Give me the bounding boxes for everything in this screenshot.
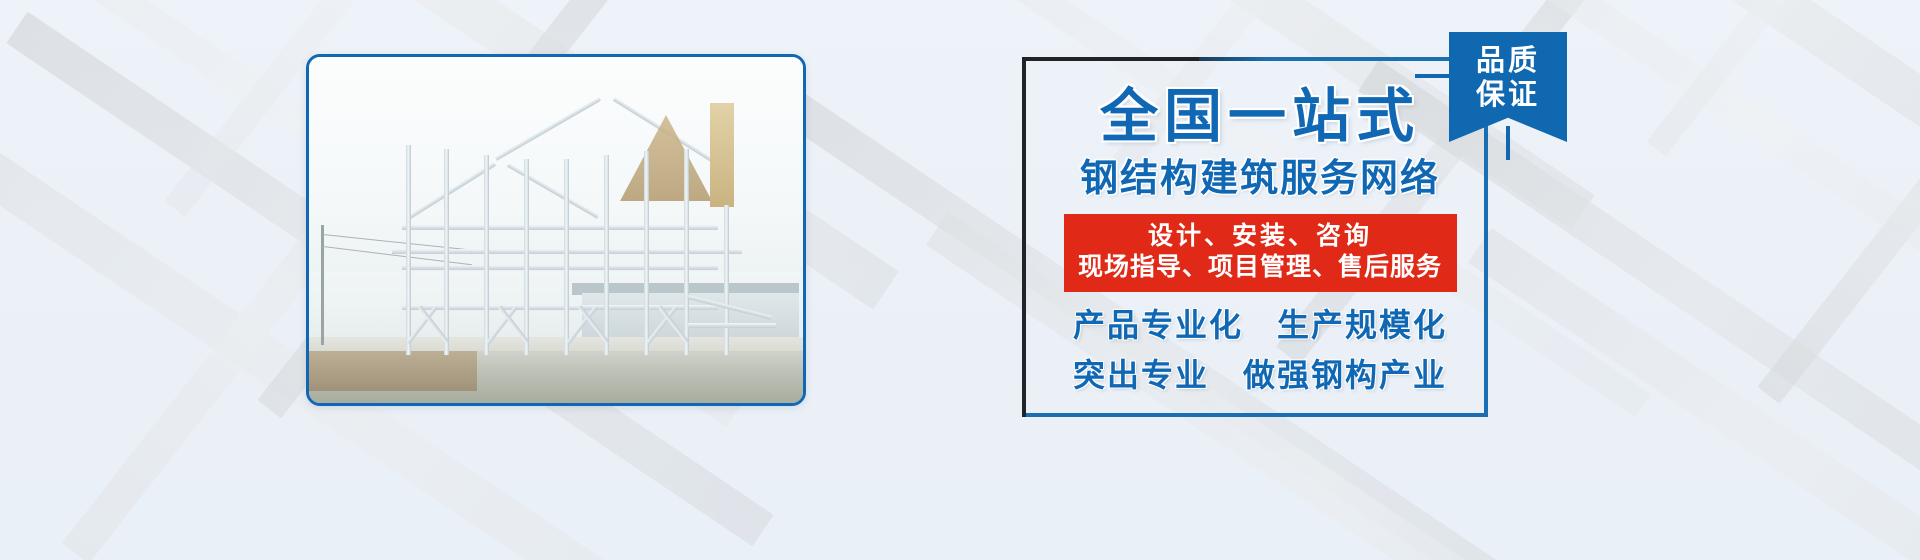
photo-dirt <box>309 351 477 391</box>
slogan-line-2: 突出专业 做强钢构产业 <box>1073 359 1447 391</box>
project-photo-card <box>306 54 806 406</box>
ribbon-connector-stem <box>1506 126 1510 160</box>
promo-banner: 品质 保证 全国一站式 钢结构建筑服务网络 设计、安装、咨询 现场指导、项目管理… <box>0 0 1920 560</box>
badge-line-2: 保证 <box>1476 78 1540 112</box>
slogan-line-1: 产品专业化 生产规模化 <box>1073 309 1447 341</box>
background-steel-beams <box>0 0 1920 560</box>
photo-utility-pole <box>321 225 324 345</box>
badge-line-1: 品质 <box>1476 44 1540 78</box>
banner-headline: 全国一站式 <box>1100 88 1420 146</box>
photo-steel-frame <box>388 99 783 355</box>
services-red-bar: 设计、安装、咨询 现场指导、项目管理、售后服务 <box>1064 214 1457 292</box>
services-line-2: 现场指导、项目管理、售后服务 <box>1064 252 1457 283</box>
banner-subheadline: 钢结构建筑服务网络 <box>1080 160 1440 198</box>
services-line-1: 设计、安装、咨询 <box>1064 221 1457 252</box>
steel-frame-house-photo <box>309 57 803 403</box>
banner-text-block: 全国一站式 钢结构建筑服务网络 设计、安装、咨询 现场指导、项目管理、售后服务 … <box>1040 60 1480 416</box>
